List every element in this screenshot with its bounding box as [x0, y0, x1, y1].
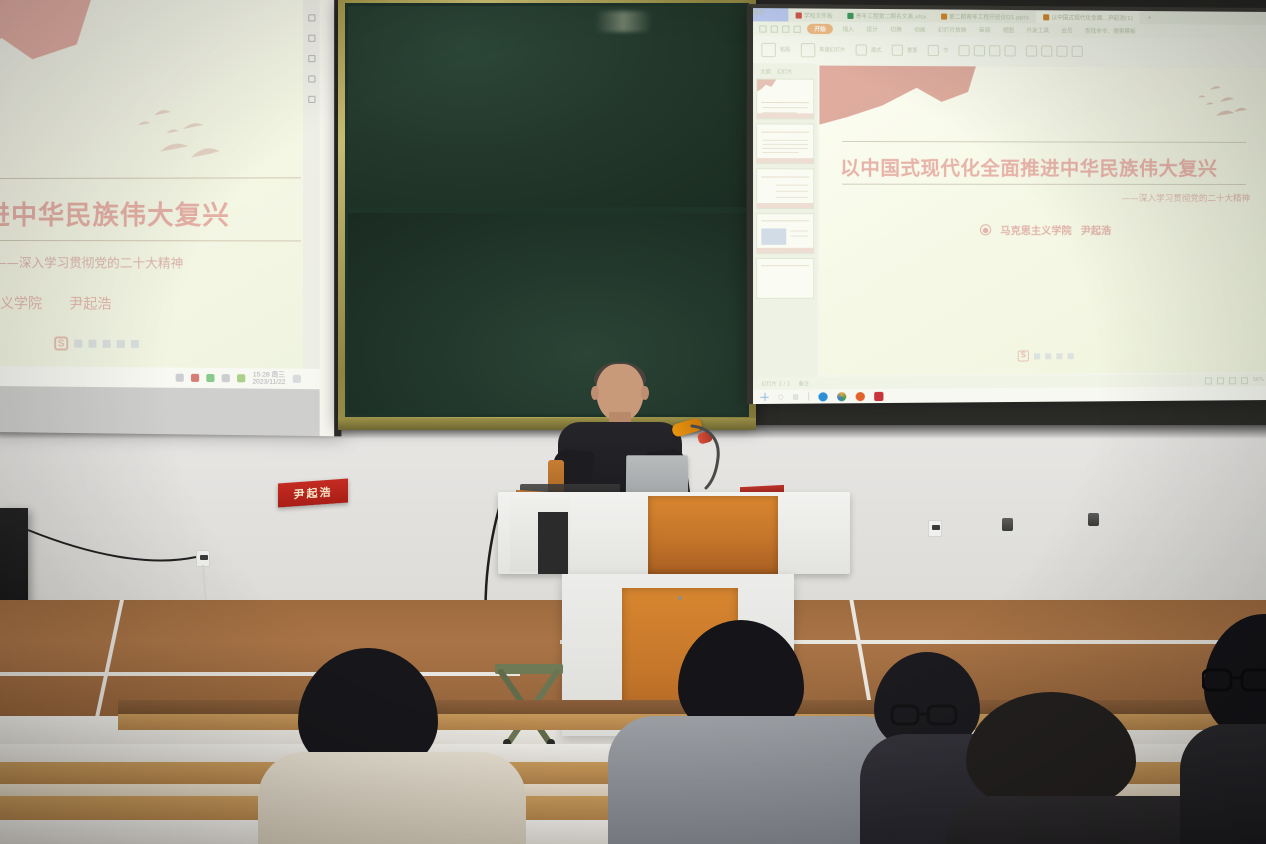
- microphone-stem: [690, 424, 732, 490]
- taskbar-clock[interactable]: 15:28 周三 2023/11/22: [252, 371, 285, 386]
- projection-screen-left: 进中华民族伟大复兴 ——深入学习贯彻党的二十大精神 思主义学院 尹起浩 S: [0, 0, 341, 436]
- pdf-doc-icon: [796, 12, 802, 18]
- slideshow-icon[interactable]: [1241, 377, 1248, 384]
- ribbon-group-reset[interactable]: 重置: [892, 45, 918, 56]
- numbering-icon[interactable]: [1072, 46, 1083, 57]
- thumb-banner-shape: [757, 80, 776, 93]
- doc-tab-label-0: 学校文件板: [804, 11, 833, 19]
- undo-icon[interactable]: [782, 25, 789, 32]
- ribbon-group-paste[interactable]: 粘贴: [761, 42, 790, 56]
- chalkboard-glare: [595, 11, 652, 32]
- slide-subtitle-right: ——深入学习贯彻党的二十大精神: [1122, 192, 1250, 204]
- deco-icon-2: [88, 340, 96, 348]
- doc-tab-label-2: 第二期青年工程开班仪Q1.pptx: [949, 12, 1029, 21]
- red-banner-shape: [0, 0, 94, 111]
- ribbon-button-label-3: 重置: [907, 47, 917, 54]
- deco-icon-2: [1045, 353, 1051, 359]
- layout-icon[interactable]: [856, 44, 867, 55]
- red-banner-shape: [819, 66, 975, 131]
- slide-rule-mid: [842, 184, 1246, 185]
- deco-icon-4: [117, 340, 125, 348]
- pointer-icon[interactable]: [308, 35, 315, 42]
- audience-member-5: [1180, 614, 1266, 844]
- ribbon-tab-4[interactable]: 动画: [911, 25, 929, 33]
- underline-icon[interactable]: [989, 45, 1000, 56]
- ribbon-tab-0[interactable]: 开始: [807, 24, 833, 34]
- reset-icon[interactable]: [892, 45, 903, 56]
- ribbon-group-font[interactable]: [959, 45, 1016, 56]
- projection-screen-right: 首页 学校文件板 青年工程第二期名文表.xlsx 第二期青年工程开班仪Q1.pp…: [747, 4, 1266, 404]
- deco-icon-3: [1056, 353, 1062, 359]
- wall-outlet-right: [928, 520, 942, 537]
- exit-icon[interactable]: [308, 96, 315, 103]
- slide-presenter-right: 尹起浩: [1081, 222, 1111, 237]
- podium-door-knob: [678, 596, 682, 600]
- quick-access-toolbar[interactable]: [759, 25, 801, 32]
- person-icon: ●: [980, 224, 991, 235]
- ribbon-tab-6[interactable]: 审阅: [976, 26, 994, 34]
- slide-department-left: 思主义学院: [0, 296, 42, 312]
- slide-author-right: ● 马克思主义学院 尹起浩: [819, 222, 1266, 238]
- thumb-text-line: [762, 152, 798, 153]
- normal-view-icon[interactable]: [1205, 377, 1212, 384]
- slide-rule-mid: [0, 240, 301, 241]
- presentation-icon-active: [1043, 14, 1049, 20]
- volume-icon[interactable]: [237, 374, 245, 382]
- windows-start-icon[interactable]: [760, 393, 768, 401]
- thumb-text-line: [776, 191, 808, 192]
- wps-logo-right: S: [819, 349, 1266, 363]
- thumb-footer: [757, 158, 813, 163]
- wps-icon[interactable]: [874, 391, 883, 400]
- ribbon-group-layout[interactable]: 版式: [856, 44, 882, 55]
- deco-icon-1: [74, 340, 82, 348]
- thumb-text-line: [762, 148, 808, 149]
- wps-workspace: 大纲 幻灯片: [753, 63, 1266, 377]
- logo-mark-icon: S: [54, 336, 68, 350]
- thumb-footer: [757, 113, 813, 118]
- align-left-icon[interactable]: [1026, 45, 1037, 56]
- edge-icon[interactable]: [818, 392, 827, 401]
- thumbnail-slide-3[interactable]: [756, 168, 814, 209]
- ribbon-tab-2[interactable]: 设计: [863, 25, 881, 33]
- thumb-rule: [761, 132, 809, 134]
- ribbon-tab-9[interactable]: 会员: [1058, 27, 1075, 35]
- speaker-ear-right: [641, 386, 649, 400]
- wps-office-window: 首页 学校文件板 青年工程第二期名文表.xlsx 第二期青年工程开班仪Q1.pp…: [753, 8, 1266, 404]
- slide-presenter-left: 尹起浩: [69, 296, 111, 312]
- sorter-view-icon[interactable]: [1217, 377, 1224, 384]
- chalkboard-panel-upper: [348, 6, 746, 207]
- audience-shoulders: [258, 752, 526, 844]
- slide-thumbnail-panel[interactable]: 大纲 幻灯片: [753, 63, 817, 377]
- status-view-label: 幻灯片 1 / 1: [761, 380, 790, 387]
- audience-shoulders: [1180, 724, 1266, 844]
- birds-icon: [1194, 86, 1250, 126]
- doc-tab-2[interactable]: 第二期青年工程开班仪Q1.pptx: [934, 9, 1036, 23]
- action-center-icon[interactable]: [293, 375, 301, 383]
- slide-author-left: 思主义学院 尹起浩: [0, 293, 112, 314]
- slide-subtitle-left: ——深入学习贯彻党的二十大精神: [0, 252, 297, 272]
- speaker-ear-left: [591, 386, 599, 400]
- lecture-hall-photo: 进中华民族伟大复兴 ——深入学习贯彻党的二十大精神 思主义学院 尹起浩 S: [0, 0, 1266, 844]
- status-right-group[interactable]: 56%: [1205, 377, 1264, 384]
- slide-department-right: 马克思主义学院: [1000, 222, 1071, 237]
- thumb-text-line: [790, 230, 808, 231]
- thumb-text-line: [762, 107, 808, 108]
- deco-icon-1: [1034, 353, 1040, 359]
- thumbnail-slide-4[interactable]: [756, 213, 814, 254]
- deco-icon-3: [103, 340, 111, 348]
- doc-tab-label-1: 青年工程第二期名文表.xlsx: [856, 11, 927, 20]
- audience-head: [966, 692, 1136, 812]
- thumb-chart-image: [761, 228, 786, 244]
- doc-tab-0[interactable]: 学校文件板: [788, 8, 840, 22]
- doc-tab-label-3: 以中国式现代化全面...尹起浩(1): [1051, 13, 1132, 22]
- outline-tab[interactable]: 大纲: [760, 68, 770, 75]
- wall-bracket-2: [1088, 513, 1099, 526]
- slide-rule-top: [0, 177, 301, 179]
- ribbon-tab-8[interactable]: 开发工具: [1023, 26, 1052, 34]
- thumb-footer: [757, 248, 813, 253]
- thumbnail-slide-1[interactable]: [756, 78, 814, 119]
- grid-icon[interactable]: [308, 55, 315, 62]
- ribbon-tab-5[interactable]: 幻灯片放映: [935, 26, 970, 34]
- slideshow-side-toolbar-left[interactable]: [303, 0, 320, 389]
- ribbon-tab-1[interactable]: 插入: [839, 25, 857, 33]
- ribbon-group-new-slide[interactable]: 新建幻灯片: [801, 43, 846, 58]
- bold-icon[interactable]: [959, 45, 970, 56]
- wps-home-tab[interactable]: 首页: [753, 8, 788, 22]
- deco-icon-5: [131, 340, 139, 348]
- thumbnail-slide-2[interactable]: [756, 123, 814, 164]
- taskbar-divider: [808, 392, 809, 400]
- screen-left-bottom-frame: [0, 386, 320, 436]
- ribbon-tab-7[interactable]: 视图: [1000, 26, 1018, 34]
- section-icon[interactable]: [928, 45, 939, 56]
- thumb-text-line: [790, 236, 808, 237]
- slide-left: 进中华民族伟大复兴 ——深入学习贯彻党的二十大精神 思主义学院 尹起浩 S: [0, 0, 320, 389]
- thumb-rule: [761, 176, 809, 177]
- speaker-nameplate: 尹起浩: [278, 479, 348, 508]
- slide-title-right: 以中国式现代化全面推进中华民族伟大复兴: [840, 153, 1260, 181]
- ribbon-search[interactable]: 查找命令、搜索模板: [1082, 27, 1139, 35]
- slide-rule-top: [842, 141, 1246, 143]
- thumb-rule: [761, 220, 809, 221]
- thumb-rule: [761, 265, 809, 267]
- paste-icon[interactable]: [761, 42, 776, 56]
- chalkboard-panel-lower: [348, 213, 746, 414]
- chrome-icon[interactable]: [837, 392, 846, 401]
- reading-view-icon[interactable]: [1229, 377, 1236, 384]
- more-icon[interactable]: [308, 75, 315, 82]
- logo-mark-icon: S: [1018, 350, 1029, 361]
- birds-icon: [130, 106, 253, 177]
- ribbon-group-paragraph[interactable]: [1026, 45, 1083, 56]
- eyeglasses-icon-2: [890, 700, 970, 740]
- wps-logo-left: S: [54, 336, 139, 351]
- align-center-icon[interactable]: [1041, 46, 1052, 57]
- ribbon-group-section[interactable]: 节: [928, 45, 949, 56]
- slides-tab[interactable]: 幻灯片: [777, 68, 793, 75]
- network-icon[interactable]: [206, 374, 214, 382]
- wps-ribbon-body[interactable]: 粘贴 新建幻灯片 版式 重置 节: [753, 36, 1266, 66]
- chalkboard-surface: [345, 3, 749, 417]
- taskbar-date: 2023/11/22: [252, 378, 285, 386]
- podium-equipment-bay: [538, 512, 568, 574]
- search-icon[interactable]: ○: [778, 393, 783, 400]
- thumb-text-line: [776, 197, 808, 198]
- status-note-button[interactable]: 备注: [799, 380, 809, 387]
- ribbon-tab-3[interactable]: 切换: [887, 25, 905, 33]
- task-view-icon[interactable]: ▤: [793, 393, 799, 400]
- ribbon-button-label-1: 新建幻灯片: [819, 46, 845, 53]
- thumb-rule: [761, 102, 809, 104]
- thumb-text-line: [762, 140, 808, 141]
- new-tab-button[interactable]: +: [1140, 11, 1159, 24]
- wall-bracket-1: [1002, 518, 1013, 531]
- battery-icon[interactable]: [222, 374, 230, 382]
- ribbon-button-label-2: 版式: [871, 47, 881, 54]
- notification-icon[interactable]: [191, 374, 199, 382]
- nameplate-text: 尹起浩: [294, 484, 333, 503]
- ribbon-button-label-0: 粘贴: [780, 46, 790, 53]
- font-color-icon[interactable]: [1005, 45, 1016, 56]
- chalkboard: [338, 0, 756, 424]
- save-icon[interactable]: [759, 25, 766, 32]
- eyeglasses-icon: [1202, 666, 1266, 696]
- bullets-icon[interactable]: [1056, 46, 1067, 57]
- slide-title-left: 进中华民族伟大复兴: [0, 195, 299, 233]
- spreadsheet-icon: [847, 12, 853, 18]
- thumb-text-line: [762, 144, 808, 145]
- new-slide-icon[interactable]: [801, 43, 816, 57]
- italic-icon[interactable]: [974, 45, 985, 56]
- thumb-text-line: [776, 185, 808, 186]
- ribbon-button-label-4: 节: [943, 47, 948, 54]
- print-icon[interactable]: [771, 25, 778, 32]
- redo-icon[interactable]: [794, 25, 801, 32]
- thumbnail-panel-header[interactable]: 大纲 幻灯片: [756, 66, 814, 79]
- deco-icon-4: [1068, 353, 1074, 359]
- doc-tab-1[interactable]: 青年工程第二期名文表.xlsx: [840, 9, 934, 23]
- slide-canvas-right[interactable]: 以中国式现代化全面推进中华民族伟大复兴 ——深入学习贯彻党的二十大精神 ● 马克…: [819, 66, 1266, 375]
- thumbnail-slide-5[interactable]: [756, 258, 814, 299]
- ime-icon[interactable]: [176, 374, 184, 382]
- podium-wood-front: [648, 496, 778, 574]
- pen-icon[interactable]: [308, 14, 315, 21]
- firefox-icon[interactable]: [856, 391, 865, 400]
- audience-member-1: [258, 648, 558, 844]
- presentation-icon: [941, 13, 947, 19]
- zoom-level[interactable]: 56%: [1253, 377, 1264, 383]
- thumb-footer: [757, 203, 813, 208]
- doc-tab-3[interactable]: 以中国式现代化全面...尹起浩(1): [1036, 10, 1140, 24]
